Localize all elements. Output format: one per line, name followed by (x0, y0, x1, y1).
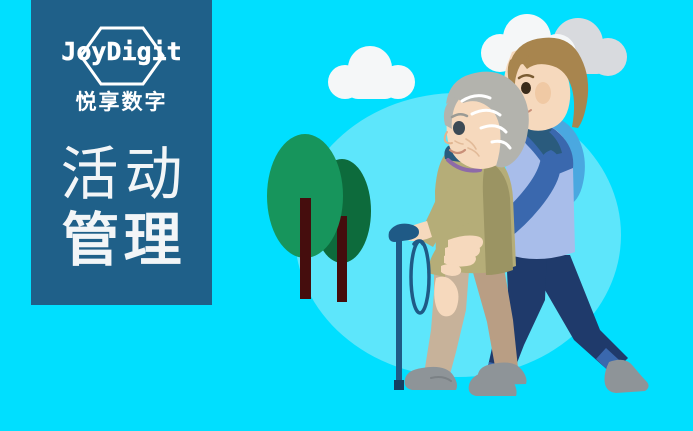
logo-chinese-name: 悦享数字 (76, 90, 168, 116)
brand-logo: JoyDigit (47, 26, 197, 88)
page-title-line-1: 活动 (31, 142, 212, 208)
poster-canvas: JoyDigit 悦享数字 活动 管理 (0, 0, 693, 431)
cane-shaft (396, 240, 402, 386)
cane-tip (394, 380, 404, 390)
man-ear (535, 82, 551, 104)
logo-wordmark: JoyDigit (47, 39, 197, 65)
woman-eye (453, 121, 465, 135)
title-banner-panel: JoyDigit 悦享数字 活动 管理 (31, 0, 212, 305)
page-title: 活动 管理 (31, 142, 212, 274)
page-title-line-2: 管理 (31, 208, 212, 274)
man-eye (521, 82, 531, 94)
